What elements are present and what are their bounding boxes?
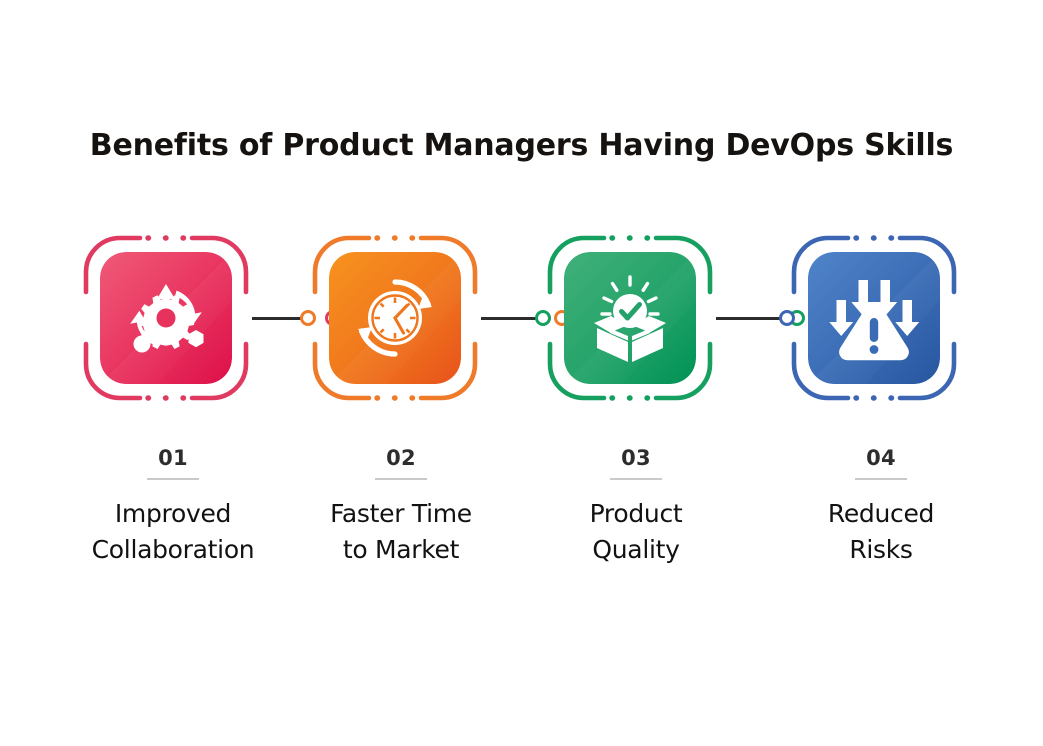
step-divider (375, 478, 427, 480)
card-tile (100, 252, 232, 384)
step-label-1: 01 Improved Collaboration (58, 445, 288, 568)
step-number: 03 (521, 445, 751, 471)
step-number: 01 (58, 445, 288, 471)
card-tile (564, 252, 696, 384)
step-label-2: 02 Faster Time to Market (286, 445, 516, 568)
step-card-2[interactable] (309, 232, 493, 414)
step-label-3: 03 Product Quality (521, 445, 751, 568)
card-tile (329, 252, 461, 384)
connector-node (535, 310, 551, 326)
step-card-3[interactable] (544, 232, 728, 414)
steps-row (0, 232, 1043, 418)
step-caption: Faster Time to Market (286, 496, 516, 568)
step-label-4: 04 Reduced Risks (766, 445, 996, 568)
step-caption: Improved Collaboration (58, 496, 288, 568)
connector-node (300, 310, 316, 326)
connector-node (779, 310, 795, 326)
step-divider (855, 478, 907, 480)
step-number: 04 (766, 445, 996, 471)
step-caption: Product Quality (521, 496, 751, 568)
card-tile (808, 252, 940, 384)
step-card-1[interactable] (80, 232, 264, 414)
step-card-4[interactable] (788, 232, 972, 414)
infographic-canvas: Benefits of Product Managers Having DevO… (0, 0, 1043, 746)
step-caption: Reduced Risks (766, 496, 996, 568)
step-number: 02 (286, 445, 516, 471)
labels-row: 01 Improved Collaboration 02 Faster Time… (0, 445, 1043, 585)
step-divider (147, 478, 199, 480)
page-title: Benefits of Product Managers Having DevO… (0, 128, 1043, 163)
step-divider (610, 478, 662, 480)
